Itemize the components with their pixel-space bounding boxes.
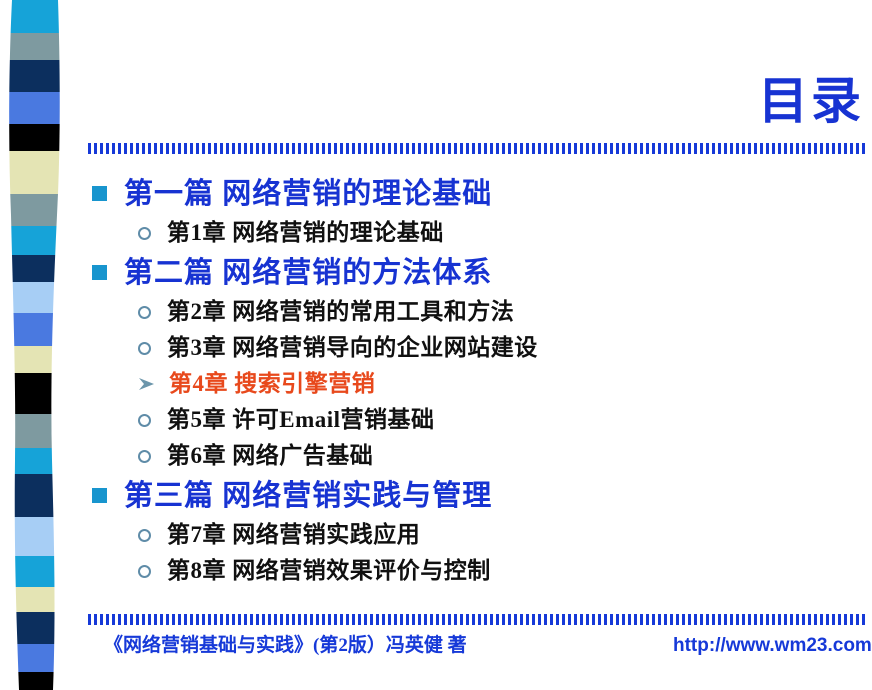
footer-url[interactable]: http://www.wm23.com bbox=[673, 634, 872, 658]
square-bullet-icon bbox=[92, 186, 107, 201]
toc-item-label: 第4章 搜索引擎营销 bbox=[169, 371, 375, 397]
toc-item-chapter-7[interactable]: 第7章 网络营销实践应用 bbox=[138, 517, 792, 553]
toc-item-part-2[interactable]: 第二篇 网络营销的方法体系 bbox=[92, 251, 792, 294]
circle-bullet-icon bbox=[138, 529, 151, 542]
circle-bullet-icon bbox=[138, 565, 151, 578]
footer-book-title: 《网络营销基础与实践》(第2版）冯英健 著 bbox=[104, 634, 467, 658]
circle-bullet-icon bbox=[138, 450, 151, 463]
toc-item-label: 第二篇 网络营销的方法体系 bbox=[124, 257, 492, 289]
circle-bullet-icon bbox=[138, 227, 151, 240]
slide-title: 目录 bbox=[264, 72, 864, 130]
circle-bullet-icon bbox=[138, 306, 151, 319]
square-bullet-icon bbox=[92, 488, 107, 503]
toc-item-label: 第7章 网络营销实践应用 bbox=[167, 522, 420, 548]
toc-item-label: 第6章 网络广告基础 bbox=[167, 443, 373, 469]
toc-item-label: 第1章 网络营销的理论基础 bbox=[167, 220, 444, 246]
toc-item-part-3[interactable]: 第三篇 网络营销实践与管理 bbox=[92, 474, 792, 517]
toc-item-label: 第三篇 网络营销实践与管理 bbox=[124, 480, 492, 512]
toc-item-label: 第一篇 网络营销的理论基础 bbox=[124, 178, 492, 210]
arrow-bullet-icon bbox=[138, 377, 155, 391]
circle-bullet-icon bbox=[138, 414, 151, 427]
table-of-contents: 第一篇 网络营销的理论基础 第1章 网络营销的理论基础 第二篇 网络营销的方法体… bbox=[92, 172, 792, 589]
circle-bullet-icon bbox=[138, 342, 151, 355]
toc-item-label: 第8章 网络营销效果评价与控制 bbox=[167, 558, 491, 584]
side-decoration-stripe bbox=[0, 0, 72, 690]
toc-item-label: 第5章 许可Email营销基础 bbox=[167, 407, 435, 433]
divider-bottom bbox=[88, 614, 866, 625]
stripe-bands bbox=[0, 0, 72, 690]
toc-item-chapter-4-current[interactable]: 第4章 搜索引擎营销 bbox=[138, 366, 792, 402]
toc-item-chapter-3[interactable]: 第3章 网络营销导向的企业网站建设 bbox=[138, 330, 792, 366]
square-bullet-icon bbox=[92, 265, 107, 280]
toc-item-chapter-1[interactable]: 第1章 网络营销的理论基础 bbox=[138, 215, 792, 251]
toc-item-chapter-5[interactable]: 第5章 许可Email营销基础 bbox=[138, 402, 792, 438]
toc-item-label: 第2章 网络营销的常用工具和方法 bbox=[167, 299, 514, 325]
toc-item-label: 第3章 网络营销导向的企业网站建设 bbox=[167, 335, 538, 361]
slide-canvas: 目录 第一篇 网络营销的理论基础 第1章 网络营销的理论基础 第二篇 网络营销的… bbox=[0, 0, 872, 690]
toc-item-chapter-2[interactable]: 第2章 网络营销的常用工具和方法 bbox=[138, 294, 792, 330]
toc-item-chapter-6[interactable]: 第6章 网络广告基础 bbox=[138, 438, 792, 474]
toc-item-chapter-8[interactable]: 第8章 网络营销效果评价与控制 bbox=[138, 553, 792, 589]
divider-top bbox=[88, 143, 866, 154]
toc-item-part-1[interactable]: 第一篇 网络营销的理论基础 bbox=[92, 172, 792, 215]
